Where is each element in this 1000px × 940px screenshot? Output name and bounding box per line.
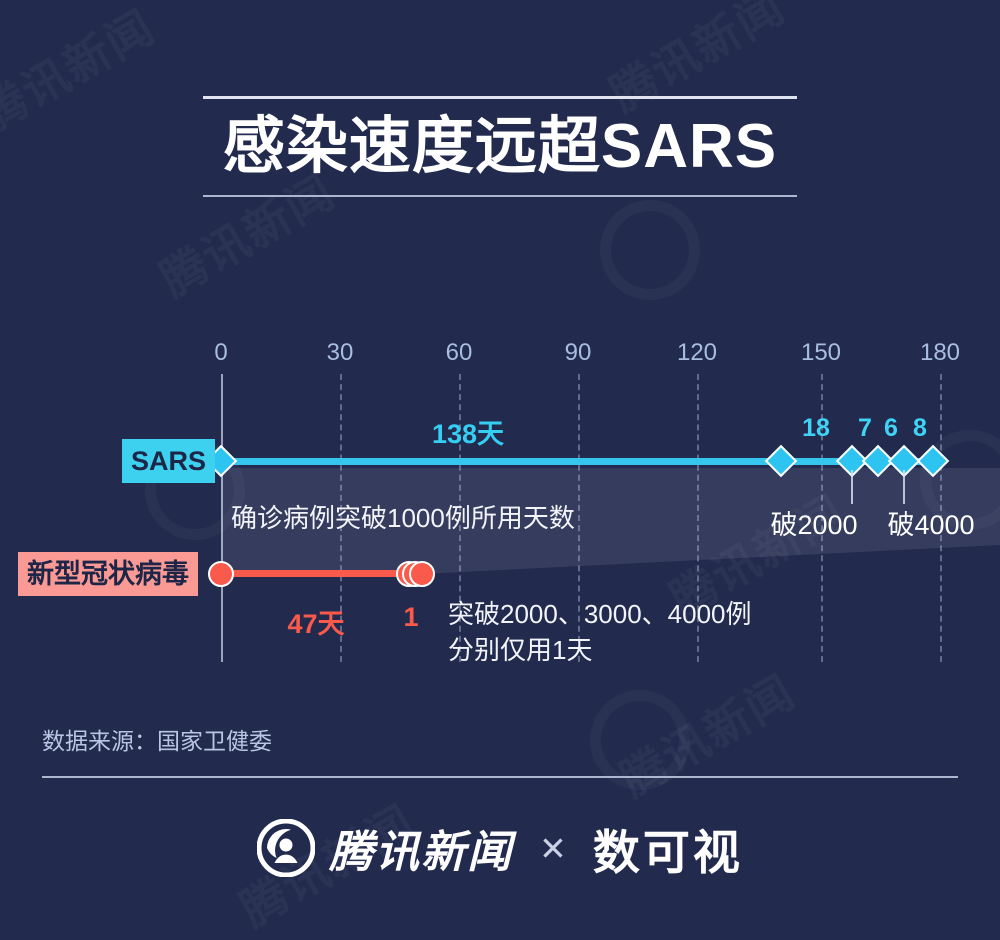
sars-segment-label-6: 6 (884, 414, 898, 443)
axis-tick-30: 30 (327, 338, 354, 368)
axis-tick-120: 120 (677, 338, 717, 368)
ncov-timeline-bar (221, 570, 421, 577)
ncov-interval-label: 1 (403, 602, 418, 633)
axis-tick-180: 180 (920, 338, 960, 368)
brand-name: 腾讯新闻 (329, 816, 513, 880)
partner-name: 数可视 (593, 814, 743, 883)
gridline-0 (221, 374, 223, 662)
tencent-news-logo-icon (257, 819, 315, 877)
source-note: 数据来源：国家卫健委 (42, 722, 272, 756)
axis-tick-0: 0 (214, 338, 227, 368)
ncov-marker-start[interactable] (208, 561, 234, 587)
leader-line-4000 (903, 470, 905, 504)
ncov-row-tag: 新型冠状病毒 (18, 552, 198, 596)
infographic-canvas: 腾讯新闻 腾讯新闻 腾讯新闻 腾讯新闻 腾讯新闻 腾讯新闻 感染速度远超SARS… (0, 0, 1000, 917)
sars-row-tag: SARS (122, 439, 215, 483)
cross-icon: ✕ (539, 829, 567, 868)
axis-tick-90: 90 (565, 338, 592, 368)
timeline-chart: 0 30 60 90 120 150 180 SARS 138天 18 7 6 … (0, 0, 1000, 917)
footer: 腾讯新闻 ✕ 数可视 (0, 805, 1000, 891)
leader-line-2000 (851, 470, 853, 504)
note-detail: 突破2000、3000、4000例 分别仅用1天 (448, 596, 752, 668)
sars-segment-label-18: 18 (802, 414, 830, 443)
sars-segment-label-8: 8 (913, 414, 927, 443)
brand-lockup: 腾讯新闻 (257, 816, 513, 880)
sars-caption-4000: 破4000 (887, 503, 974, 542)
footer-divider (42, 776, 958, 778)
ncov-marker-4000[interactable] (409, 561, 435, 587)
note-headline: 确诊病例突破1000例所用天数 (231, 500, 575, 536)
sars-segment-label-7: 7 (858, 414, 872, 443)
axis-tick-60: 60 (446, 338, 473, 368)
axis-tick-150: 150 (801, 338, 841, 368)
sars-caption-2000: 破2000 (770, 503, 857, 542)
sars-timeline-bar (221, 458, 940, 465)
ncov-days-label: 47天 (287, 602, 344, 641)
sars-days-label: 138天 (432, 412, 504, 451)
